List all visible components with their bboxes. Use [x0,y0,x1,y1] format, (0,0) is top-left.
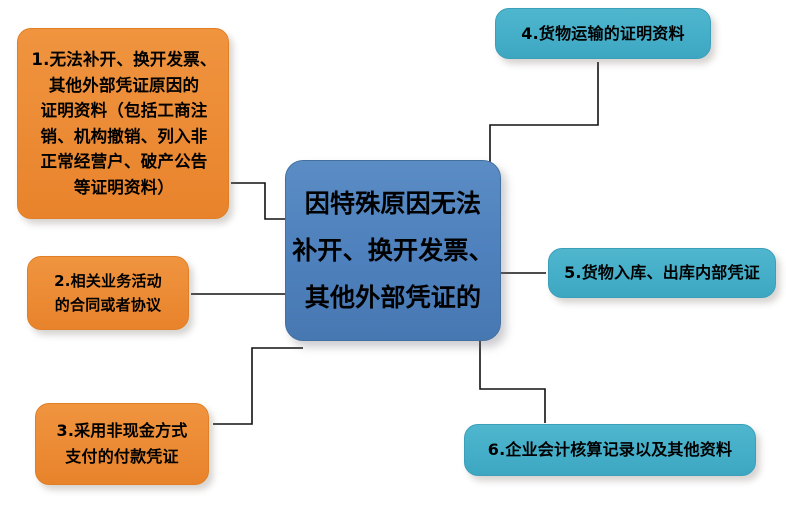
connector-node4-to-center [490,62,598,174]
node-box-4[interactable]: 4.货物运输的证明资料 [495,8,711,59]
node-box-5-label: 5.货物入库、出库内部凭证 [549,262,775,284]
node-box-2-label: 2.相关业务活动 的合同或者协议 [36,269,180,317]
node-box-6[interactable]: 6.企业会计核算记录以及其他资料 [464,424,756,476]
node-box-1-label: 1.无法补开、换开发票、 其他外部凭证原因的 证明资料（包括工商注 销、机构撤销… [30,47,218,200]
connector-node1-to-center [231,183,287,219]
node-box-4-label: 4.货物运输的证明资料 [496,23,710,45]
node-box-center[interactable]: 因特殊原因无法 补开、换开发票、 其他外部凭证的 [285,160,501,341]
node-box-6-label: 6.企业会计核算记录以及其他资料 [465,439,755,461]
connector-node3-to-center [213,348,303,424]
node-box-5[interactable]: 5.货物入库、出库内部凭证 [548,248,776,298]
node-box-3[interactable]: 3.采用非现金方式 支付的付款凭证 [35,403,209,485]
node-box-1[interactable]: 1.无法补开、换开发票、 其他外部凭证原因的 证明资料（包括工商注 销、机构撤销… [17,28,229,219]
node-box-center-label: 因特殊原因无法 补开、换开发票、 其他外部凭证的 [292,180,494,321]
node-box-3-label: 3.采用非现金方式 支付的付款凭证 [44,418,200,470]
connector-node6-to-center [480,341,545,423]
node-box-2[interactable]: 2.相关业务活动 的合同或者协议 [27,256,189,330]
diagram-canvas: 1.无法补开、换开发票、 其他外部凭证原因的 证明资料（包括工商注 销、机构撤销… [0,0,786,508]
